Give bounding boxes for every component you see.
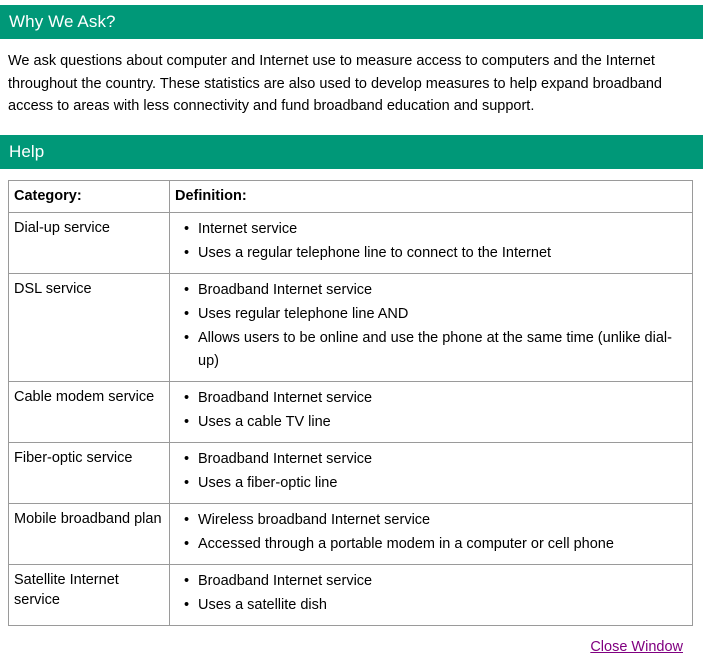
- definition-list-item: •Broadband Internet service: [178, 279, 684, 302]
- table-row: Mobile broadband plan•Wireless broadband…: [9, 503, 693, 564]
- bullet-dot-icon: •: [184, 242, 189, 265]
- definition-list-item: •Internet service: [178, 218, 684, 241]
- bullet-dot-icon: •: [184, 303, 189, 326]
- bullet-dot-icon: •: [184, 448, 189, 471]
- definition-text: Accessed through a portable modem in a c…: [198, 536, 614, 552]
- footer-close-row: Close Window: [8, 638, 693, 656]
- why-we-ask-body-text: We ask questions about computer and Inte…: [8, 50, 693, 118]
- bullet-dot-icon: •: [184, 594, 189, 617]
- definition-list-item: •Broadband Internet service: [178, 570, 684, 593]
- definition-cell: •Broadband Internet service•Uses a satel…: [170, 564, 693, 625]
- table-header-row: Category: Definition:: [9, 180, 693, 212]
- table-body: Dial-up service•Internet service•Uses a …: [9, 212, 693, 625]
- table-row: Satellite Internet service•Broadband Int…: [9, 564, 693, 625]
- definition-text: Broadband Internet service: [198, 282, 372, 298]
- category-cell: Dial-up service: [9, 212, 170, 273]
- definition-cell: •Broadband Internet service•Uses a cable…: [170, 381, 693, 442]
- column-header-definition: Definition:: [170, 180, 693, 212]
- bullet-dot-icon: •: [184, 509, 189, 532]
- table-row: Dial-up service•Internet service•Uses a …: [9, 212, 693, 273]
- definition-list: •Internet service•Uses a regular telepho…: [178, 218, 684, 265]
- definition-list-item: •Uses a satellite dish: [178, 594, 684, 617]
- category-cell: DSL service: [9, 273, 170, 381]
- category-cell: Mobile broadband plan: [9, 503, 170, 564]
- table-row: DSL service•Broadband Internet service•U…: [9, 273, 693, 381]
- definition-text: Broadband Internet service: [198, 451, 372, 467]
- definition-text: Uses a satellite dish: [198, 597, 327, 613]
- table-row: Cable modem service•Broadband Internet s…: [9, 381, 693, 442]
- definition-text: Allows users to be online and use the ph…: [198, 330, 672, 369]
- help-header: Help: [0, 135, 703, 169]
- category-cell: Cable modem service: [9, 381, 170, 442]
- bullet-dot-icon: •: [184, 533, 189, 556]
- column-header-category: Category:: [9, 180, 170, 212]
- definition-text: Uses regular telephone line AND: [198, 306, 408, 322]
- definition-list-item: •Allows users to be online and use the p…: [178, 327, 684, 373]
- bullet-dot-icon: •: [184, 411, 189, 434]
- definition-list-item: •Broadband Internet service: [178, 448, 684, 471]
- definition-list-item: •Broadband Internet service: [178, 387, 684, 410]
- definition-cell: •Broadband Internet service•Uses regular…: [170, 273, 693, 381]
- definition-list: •Broadband Internet service•Uses a satel…: [178, 570, 684, 617]
- definition-text: Uses a fiber-optic line: [198, 475, 337, 491]
- definition-list-item: •Uses a fiber-optic line: [178, 472, 684, 495]
- definition-list-item: •Wireless broadband Internet service: [178, 509, 684, 532]
- bullet-dot-icon: •: [184, 327, 189, 350]
- definition-cell: •Broadband Internet service•Uses a fiber…: [170, 442, 693, 503]
- category-cell: Satellite Internet service: [9, 564, 170, 625]
- definition-text: Uses a regular telephone line to connect…: [198, 245, 551, 261]
- close-window-link[interactable]: Close Window: [590, 639, 683, 655]
- bullet-dot-icon: •: [184, 387, 189, 410]
- definition-list-item: •Uses a regular telephone line to connec…: [178, 242, 684, 265]
- help-popup-page: Why We Ask? We ask questions about compu…: [0, 0, 703, 656]
- bullet-dot-icon: •: [184, 570, 189, 593]
- definition-list: •Wireless broadband Internet service•Acc…: [178, 509, 684, 556]
- definition-list: •Broadband Internet service•Uses a cable…: [178, 387, 684, 434]
- definition-text: Internet service: [198, 221, 297, 237]
- definition-text: Broadband Internet service: [198, 573, 372, 589]
- why-we-ask-header: Why We Ask?: [0, 5, 703, 39]
- bullet-dot-icon: •: [184, 218, 189, 241]
- definition-cell: •Internet service•Uses a regular telepho…: [170, 212, 693, 273]
- table-row: Fiber-optic service•Broadband Internet s…: [9, 442, 693, 503]
- definition-cell: •Wireless broadband Internet service•Acc…: [170, 503, 693, 564]
- definition-text: Uses a cable TV line: [198, 414, 331, 430]
- help-definitions-table: Category: Definition: Dial-up service•In…: [8, 180, 693, 626]
- definition-list-item: •Uses a cable TV line: [178, 411, 684, 434]
- category-cell: Fiber-optic service: [9, 442, 170, 503]
- definition-list: •Broadband Internet service•Uses regular…: [178, 279, 684, 373]
- definition-list: •Broadband Internet service•Uses a fiber…: [178, 448, 684, 495]
- definition-text: Broadband Internet service: [198, 390, 372, 406]
- definition-list-item: •Uses regular telephone line AND: [178, 303, 684, 326]
- definition-text: Wireless broadband Internet service: [198, 512, 430, 528]
- bullet-dot-icon: •: [184, 472, 189, 495]
- bullet-dot-icon: •: [184, 279, 189, 302]
- definition-list-item: •Accessed through a portable modem in a …: [178, 533, 684, 556]
